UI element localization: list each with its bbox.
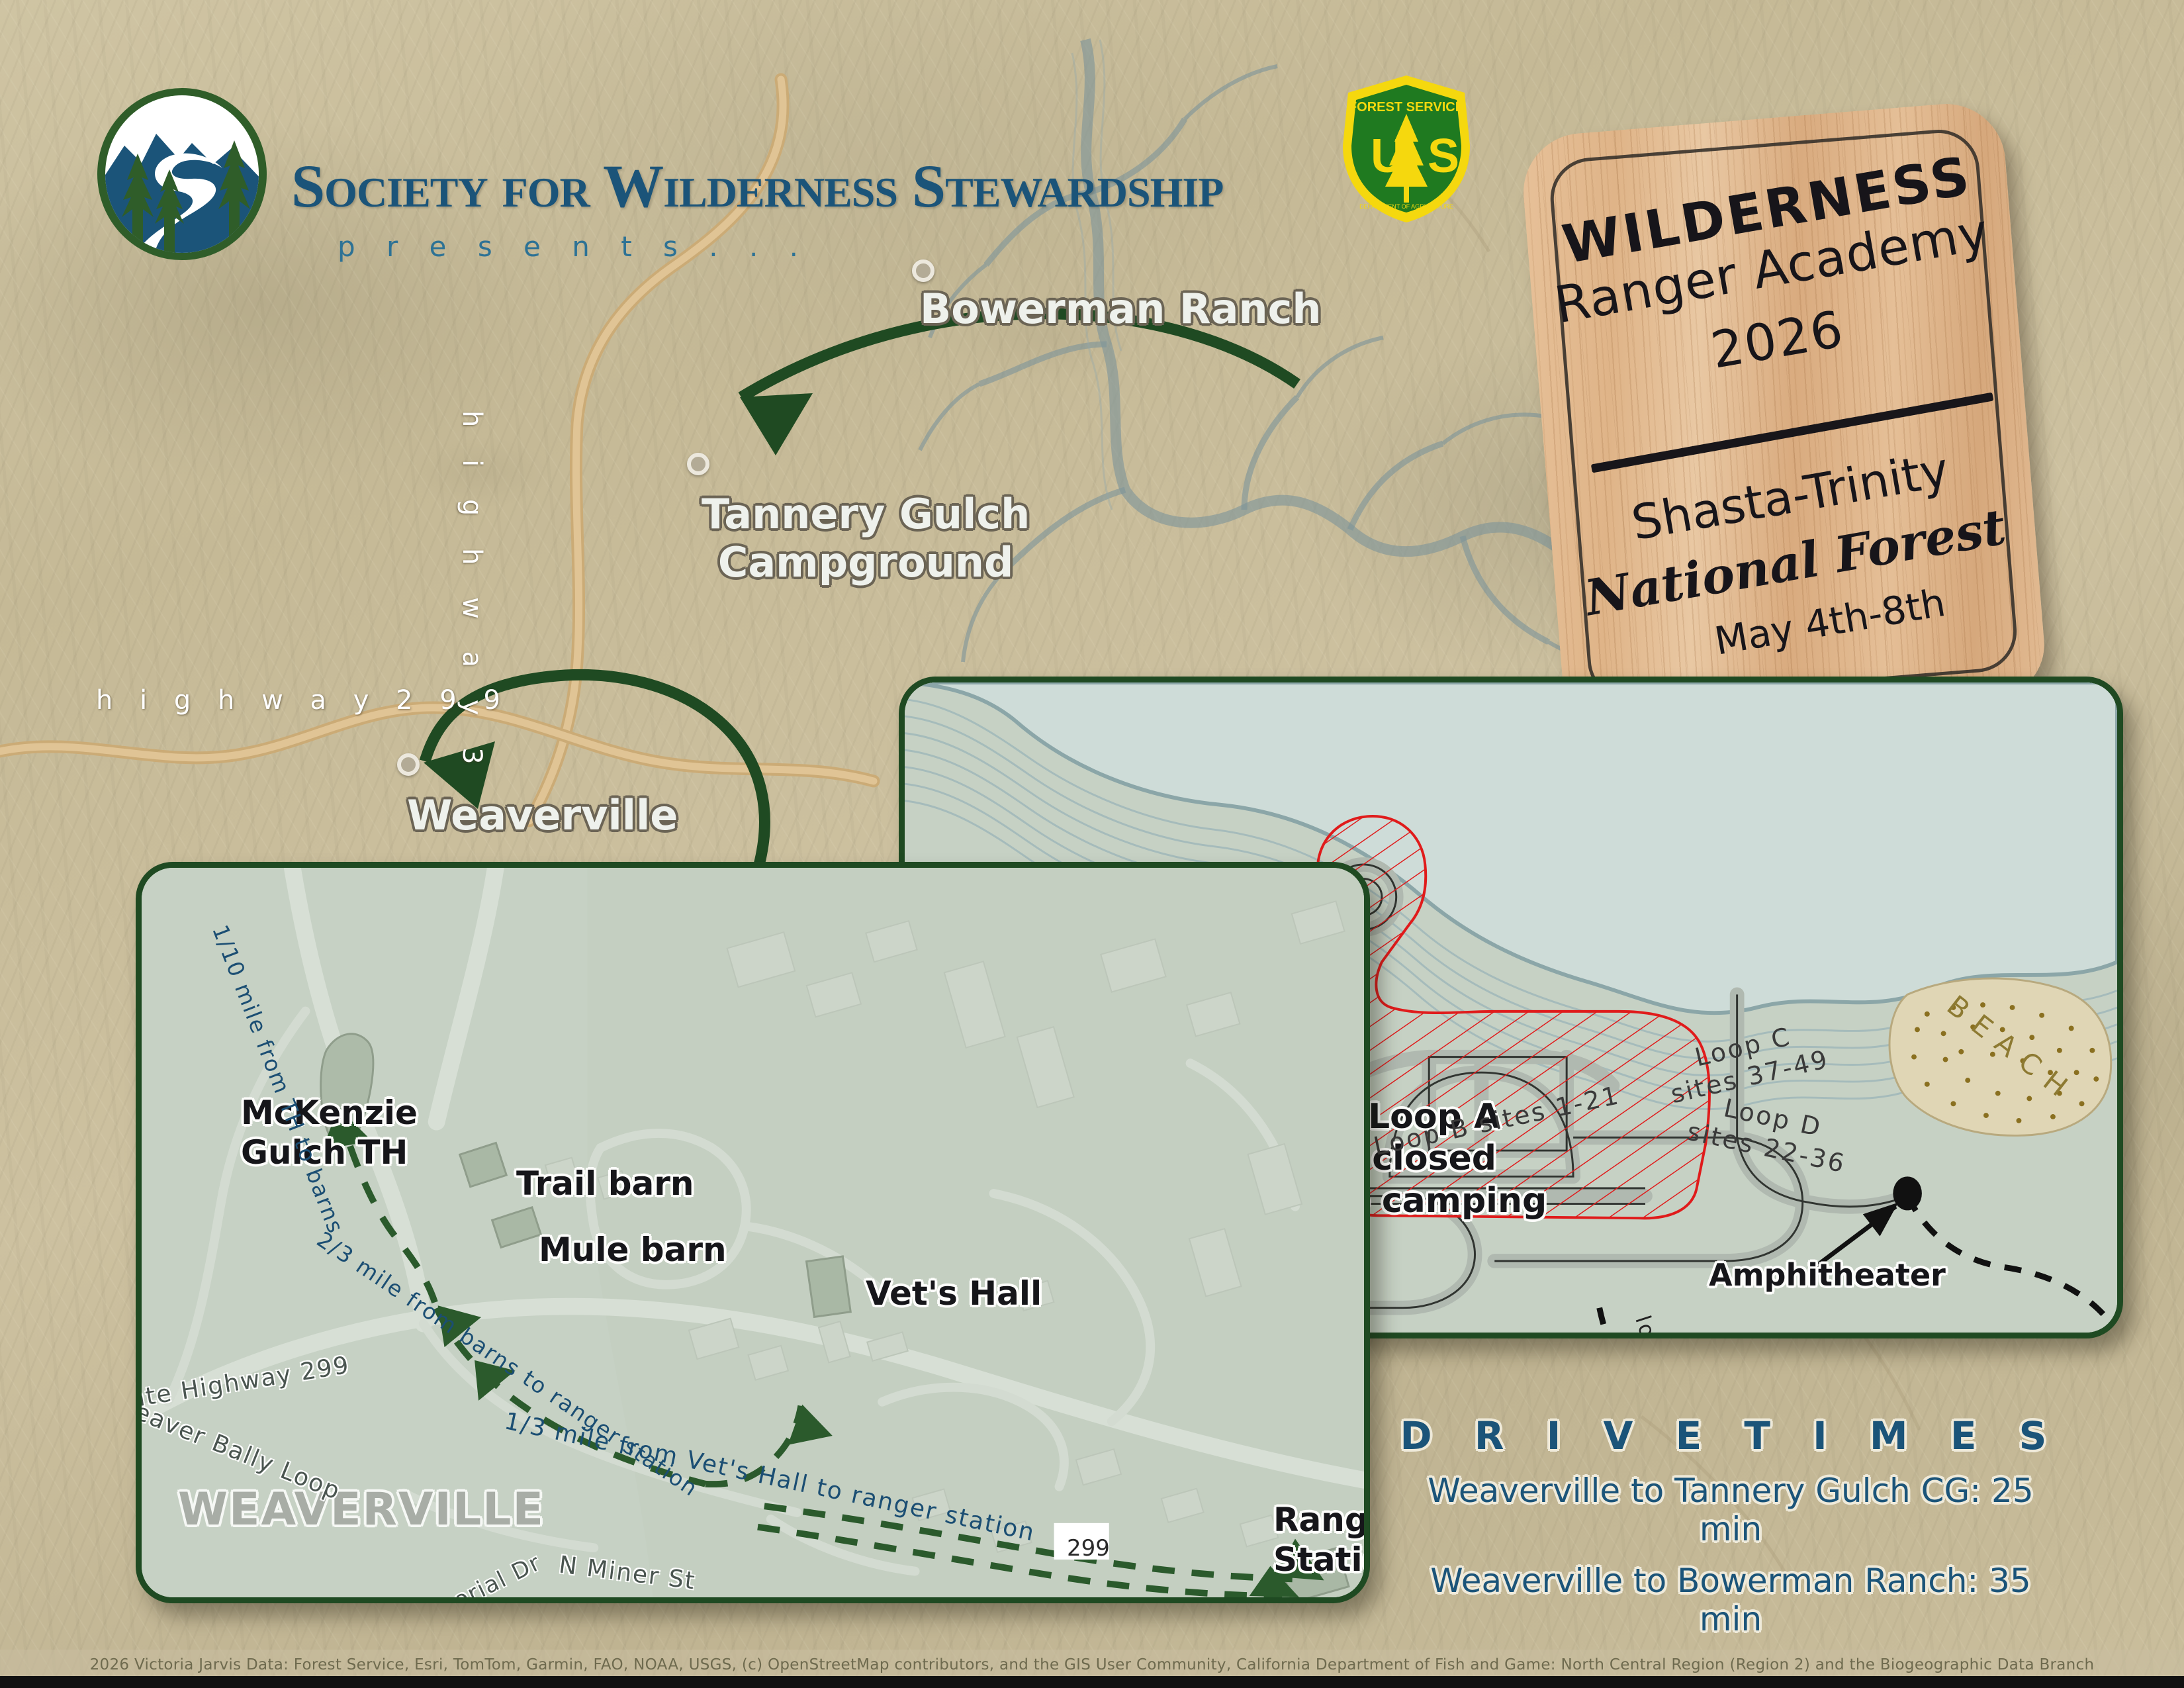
drive-times-panel: D R I V E T I M E S Weaverville to Tanne… [1396, 1413, 2065, 1638]
highway-3-label: h i g h w a y 3 [457, 410, 487, 776]
map-label-tannery-gulch-campground: Tannery Gulch Campground [702, 490, 1030, 586]
drive-time-row: Weaverville to Bowerman Ranch: 35 min [1396, 1562, 2065, 1638]
mckenzie-line1: McKenzie [241, 1093, 418, 1133]
highway-299-label: h i g h w a y 2 9 9 [96, 685, 510, 716]
map-dot-bowerman-ranch [912, 259, 934, 282]
trail-barn-label: Trail barn [516, 1164, 694, 1203]
weaverville-inset-title: WEAVERVILLE [178, 1483, 545, 1536]
society-for-wilderness-stewardship-logo [93, 85, 271, 263]
mckenzie-line2: Gulch TH [241, 1133, 418, 1172]
svg-text:FOREST SERVICE: FOREST SERVICE [1349, 100, 1464, 115]
route-shield-299: 299 [1067, 1535, 1110, 1562]
ranger-line1: Ranger [1273, 1500, 1370, 1540]
tannery-label-line1: Tannery Gulch [702, 490, 1030, 538]
footer-credits: 2026 Victoria Jarvis Data: Forest Servic… [0, 1656, 2184, 1673]
wilderness-ranger-academy-sign: WILDERNESS Ranger Academy 2026 Shasta-Tr… [1519, 99, 2048, 732]
title-block: Society for Wilderness Stewardship p r e… [291, 151, 1223, 263]
tannery-label-line2: Campground [718, 538, 1014, 586]
mule-barn-label: Mule barn [539, 1231, 727, 1269]
ranger-station-label: Ranger Station [1273, 1500, 1370, 1579]
page-title: Society for Wilderness Stewardship [291, 151, 1223, 221]
svg-text:S: S [1428, 130, 1459, 183]
bottom-black-bar [0, 1676, 2184, 1688]
map-dot-weaverville [397, 753, 420, 776]
map-label-weaverville: Weaverville [407, 791, 678, 839]
inset-weaverville: WEAVERVILLE McKenzie Gulch TH Trail barn… [136, 862, 1370, 1603]
map-dot-tannery-gulch [687, 453, 709, 475]
vets-hall-label: Vet's Hall [866, 1274, 1042, 1313]
drive-time-row: Weaverville to Tannery Gulch CG: 25 min [1396, 1472, 2065, 1548]
map-poster: Society for Wilderness Stewardship p r e… [0, 0, 2184, 1688]
amphitheater-label: Amphitheater [1709, 1257, 1946, 1293]
ranger-line2: Station [1273, 1540, 1370, 1579]
presents-subtitle: p r e s e n t s . . . [338, 230, 1223, 263]
map-label-bowerman-ranch: Bowerman Ranch [920, 285, 1322, 333]
svg-text:DEPARTMENT OF AGRICULTURE: DEPARTMENT OF AGRICULTURE [1359, 203, 1453, 210]
usfs-shield-icon: FOREST SERVICE U S DEPARTMENT OF AGRICUL… [1340, 73, 1473, 225]
mckenzie-gulch-th-label: McKenzie Gulch TH [241, 1093, 418, 1172]
drive-times-heading: D R I V E T I M E S [1396, 1413, 2065, 1458]
